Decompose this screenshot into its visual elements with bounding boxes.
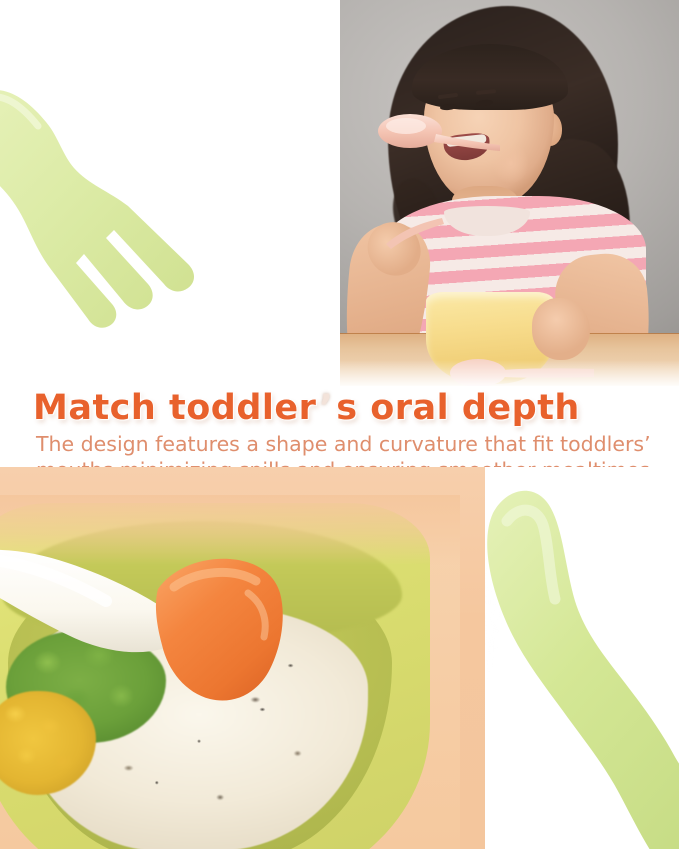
top-image-row (0, 0, 679, 386)
green-fork-illustration (0, 78, 258, 338)
lifestyle-photo-toddler-eating (340, 0, 679, 386)
lifestyle-photo-carrot-on-spoon (0, 495, 460, 849)
green-spoon-illustration (485, 467, 679, 849)
pink-spoon-in-hand (382, 214, 446, 254)
hand-right (532, 298, 590, 360)
headline-apostrophe: ’ (316, 388, 336, 428)
pink-spoon-in-mouth (376, 112, 506, 158)
photo-bottom-fade (340, 360, 679, 386)
carrot-chunk (152, 553, 312, 713)
product-image-green-fork (0, 0, 340, 386)
product-infographic: Match toddler’s oral depth The design fe… (0, 0, 679, 849)
headline-part-2: s oral depth (336, 388, 580, 428)
product-image-green-spoon (485, 467, 679, 849)
subtitle-line-1: The design features a shape and curvatur… (36, 434, 651, 455)
headline-part-1: Match toddler (33, 388, 316, 428)
page-headline: Match toddler’s oral depth (33, 388, 580, 428)
